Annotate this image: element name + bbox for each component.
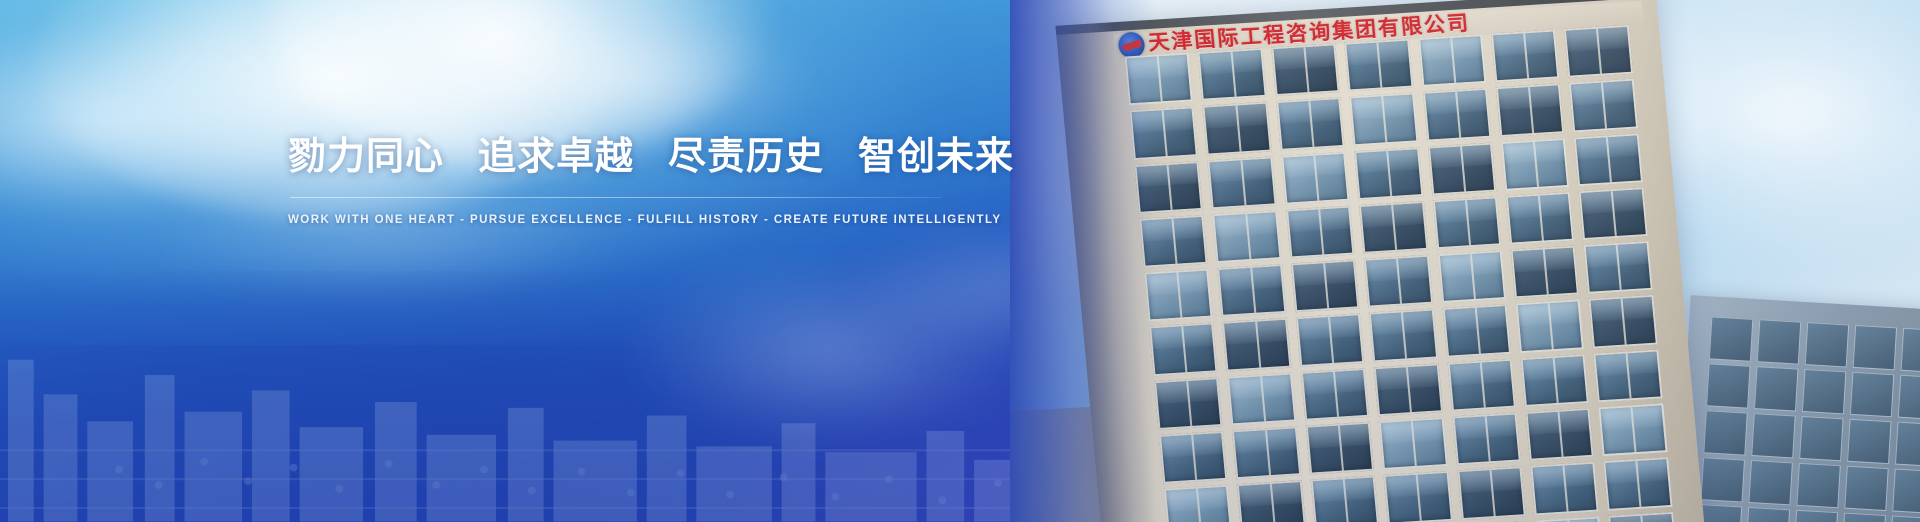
slogan-block: 勠力同心追求卓越尽责历史智创未来 WORK WITH ONE HEART - P… (288, 134, 948, 226)
hero-banner: 天津国际工程咨询集团有限公司 勠力同心追求卓越尽责历史智创未来 WORK (0, 0, 1920, 522)
subtitle-english: WORK WITH ONE HEART - PURSUE EXCELLENCE … (288, 214, 948, 226)
adjacent-building-windows (1698, 316, 1920, 522)
office-building-photo: 天津国际工程咨询集团有限公司 (1010, 0, 1920, 522)
headline-segment-1: 勠力同心 (288, 134, 444, 179)
headline-segment-3: 尽责历史 (668, 134, 824, 179)
slogan-divider (290, 197, 942, 198)
adjacent-building (1676, 295, 1920, 522)
photo-left-feather-blend (1010, 0, 1156, 522)
headline-segment-2: 追求卓越 (478, 134, 634, 179)
headline-chinese: 勠力同心追求卓越尽责历史智创未来 (288, 134, 948, 179)
tower-window-grid (1125, 25, 1677, 522)
headline-segment-4: 智创未来 (858, 134, 1014, 179)
